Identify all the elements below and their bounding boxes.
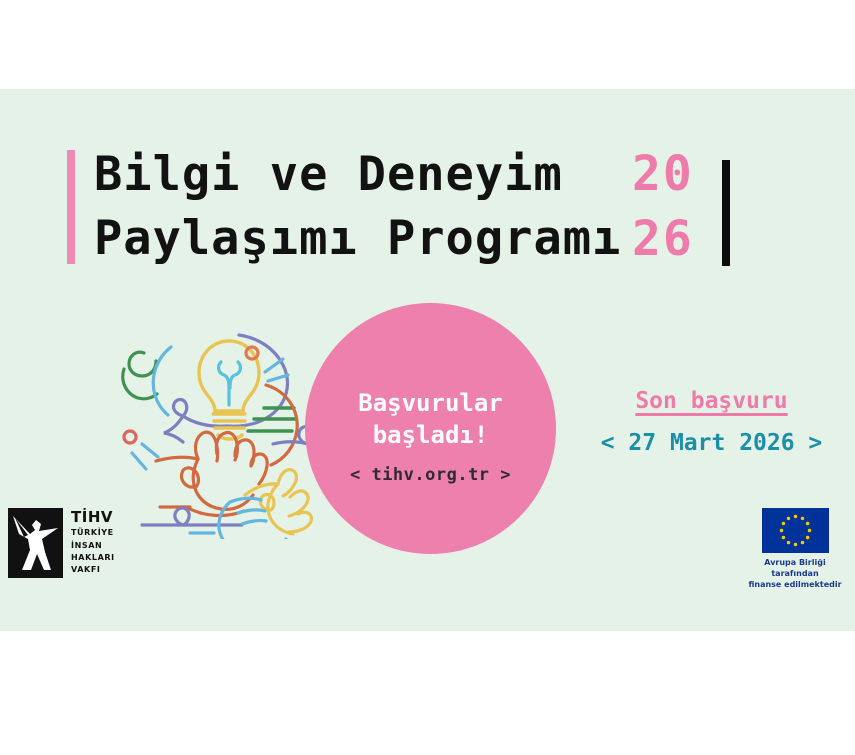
lightbulb-filament-icon (219, 362, 241, 405)
year-top: 20 (632, 150, 694, 198)
circle-heading-line-1: Başvurular (358, 388, 503, 420)
poster-card: Bilgi ve Deneyim Paylaşımı Programı 20 2… (0, 89, 855, 631)
eu-caption-line-2: finanse edilmektedir (740, 580, 850, 591)
headline-line-2: Paylaşımı Programı (94, 215, 621, 262)
orange-arc-icon (266, 385, 297, 465)
yellow-hand-icon (245, 470, 312, 534)
eu-funding-logo: Avrupa Birliği tarafından finanse edilme… (735, 508, 855, 590)
tihv-sub-line-3: HAKLARI (71, 552, 115, 563)
poster-root: Bilgi ve Deneyim Paylaşımı Programı 20 2… (0, 0, 855, 755)
orange-hand-icon (156, 432, 267, 515)
headline-line-1: Bilgi ve Deneyim (94, 151, 563, 198)
pink-accent-bar (67, 150, 75, 264)
year-bottom: 26 (632, 215, 694, 263)
deadline-label: Son başvuru (594, 388, 829, 414)
circle-text-group: Başvurular başladı! < tihv.org.tr > (305, 303, 556, 554)
tihv-wordmark: TİHV TÜRKİYE İNSAN HAKLARI VAKFI (71, 510, 115, 575)
tihv-name: TİHV (71, 510, 115, 526)
tihv-figure-icon (8, 508, 63, 578)
tihv-sub-line-1: TÜRKİYE (71, 527, 115, 538)
eu-flag-icon (762, 508, 829, 553)
applications-open-circle[interactable]: Başvurular başladı! < tihv.org.tr > (305, 303, 556, 554)
blue-bubble-icon (153, 347, 171, 415)
tihv-logo: TİHV TÜRKİYE İNSAN HAKLARI VAKFI (8, 508, 115, 578)
tihv-sub-line-4: VAKFI (71, 564, 115, 575)
green-text-lines-icon (248, 408, 296, 431)
deadline-block: Son başvuru < 27 Mart 2026 > (594, 388, 829, 456)
pink-dot-icon (124, 431, 136, 443)
website-url[interactable]: < tihv.org.tr > (350, 465, 511, 485)
purple-bubble-icon (164, 335, 287, 442)
green-swirl-icon (123, 352, 157, 399)
eu-caption: Avrupa Birliği tarafından finanse edilme… (740, 558, 850, 590)
tihv-sub-line-2: İNSAN (71, 540, 115, 551)
circle-heading-line-2: başladı! (373, 420, 489, 452)
deadline-date: < 27 Mart 2026 > (594, 430, 829, 456)
eu-caption-line-1: Avrupa Birliği tarafından (740, 558, 850, 580)
black-accent-bar (722, 160, 730, 266)
